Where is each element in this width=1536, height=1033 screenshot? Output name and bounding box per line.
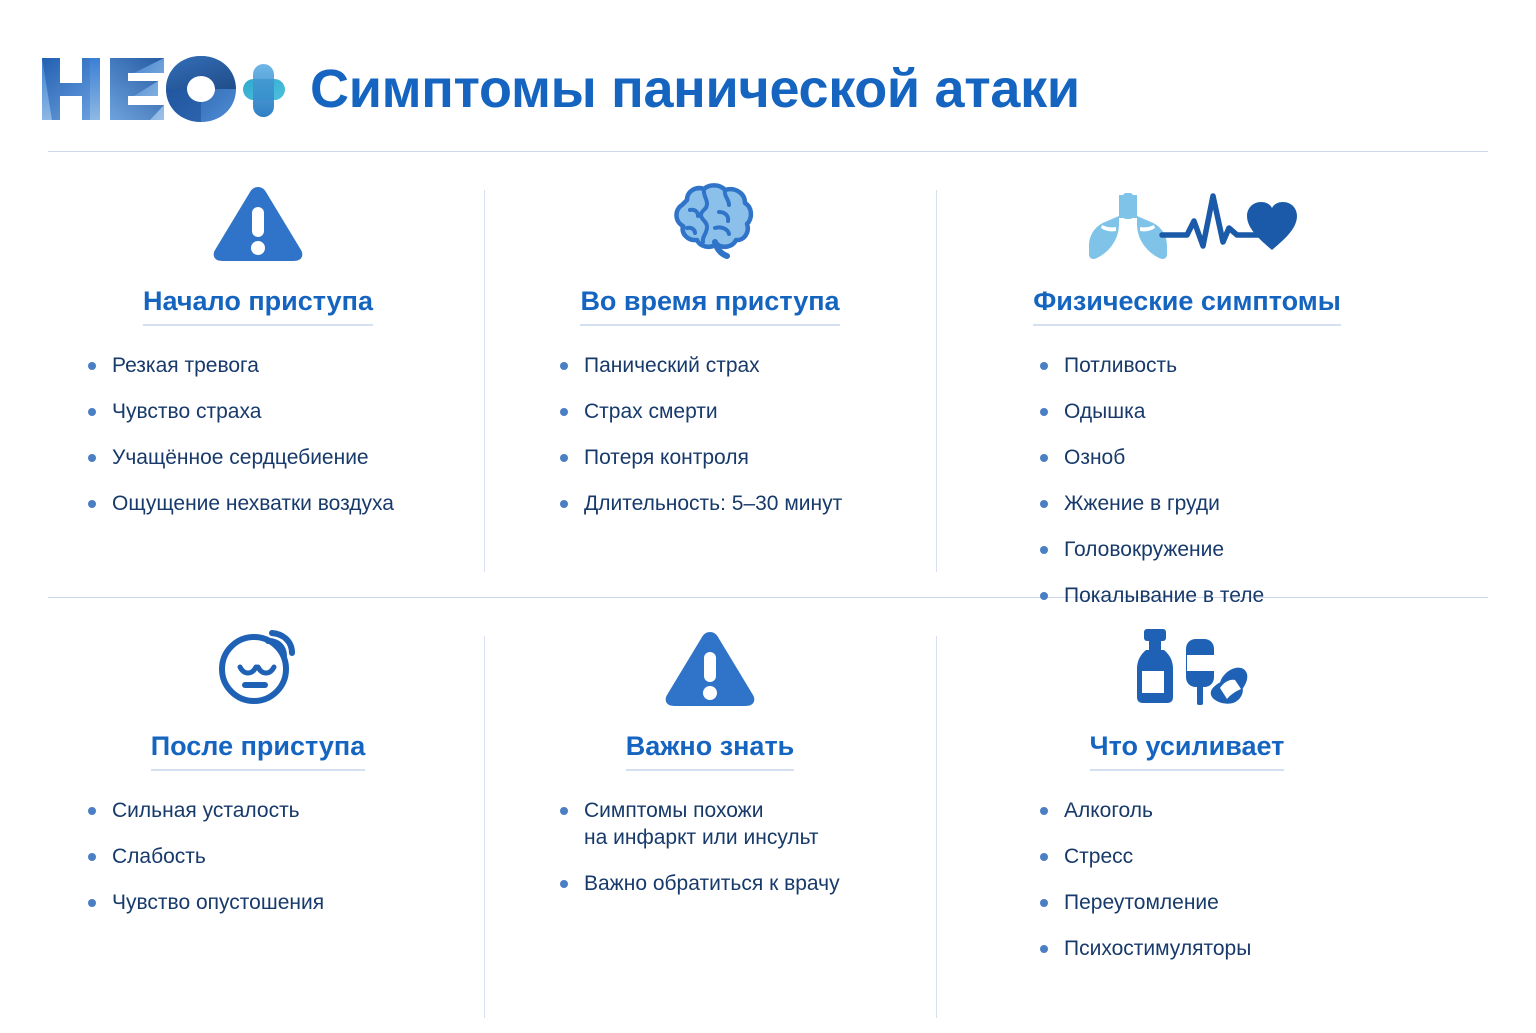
cards-row-top: Начало приступа Резкая тревога Чувство с…: [0, 152, 1536, 588]
list-item: Чувство страха: [86, 398, 468, 425]
list-item: Длительность: 5–30 минут: [558, 490, 920, 517]
list-item: Резкая тревога: [86, 352, 468, 379]
list-item: Важно обратиться к врачу: [558, 870, 920, 897]
card-list: Панический страх Страх смерти Потеря кон…: [500, 352, 920, 517]
list-item-label: Страх смерти: [584, 400, 718, 423]
list-item: Потливость: [1038, 352, 1422, 379]
card-title: Начало приступа: [143, 284, 373, 326]
list-item-label: Длительность: 5–30 минут: [584, 492, 842, 515]
list-item-label: Головокружение: [1064, 538, 1224, 561]
tired-face-icon: [48, 625, 468, 707]
card-list: Симптомы похожи на инфаркт или инсульт В…: [500, 797, 920, 897]
card-list: Потливость Одышка Озноб Жжение в груди Г…: [952, 352, 1422, 609]
list-item-label: Чувство опустошения: [112, 891, 324, 914]
list-item-label: Алкоголь: [1064, 799, 1153, 822]
card-heading: Что усиливает: [952, 729, 1422, 771]
card-onset: Начало приступа Резкая тревога Чувство с…: [48, 152, 468, 588]
list-item: Учащённое сердцебиение: [86, 444, 468, 471]
list-item: Сильная усталость: [86, 797, 468, 824]
brain-icon: [500, 180, 920, 262]
card-title: Во время приступа: [580, 284, 839, 326]
card-title: После приступа: [151, 729, 366, 771]
list-item: Панический страх: [558, 352, 920, 379]
list-item-label: Жжение в груди: [1064, 492, 1220, 515]
list-item: Чувство опустошения: [86, 889, 468, 916]
list-item-label: Одышка: [1064, 400, 1145, 423]
list-item-label: Сильная усталость: [112, 799, 300, 822]
list-item: Симптомы похожи на инфаркт или инсульт: [558, 797, 920, 851]
list-item: Психостимуляторы: [1038, 935, 1422, 962]
card-list: Сильная усталость Слабость Чувство опуст…: [48, 797, 468, 916]
card-heading: Физические симптомы: [952, 284, 1422, 326]
lungs-ecg-heart-icon: [952, 180, 1422, 262]
card-after: После приступа Сильная усталость Слабост…: [48, 597, 468, 1033]
list-item-label: Потеря контроля: [584, 446, 749, 469]
list-item: Озноб: [1038, 444, 1422, 471]
bottle-pills-icon: [952, 625, 1422, 707]
list-item-label: Учащённое сердцебиение: [112, 446, 369, 469]
card-important: Важно знать Симптомы похожи на инфаркт и…: [500, 597, 920, 1033]
list-item-label: Важно обратиться к врачу: [584, 872, 840, 895]
list-item-label: Чувство страха: [112, 400, 261, 423]
list-item: Стресс: [1038, 843, 1422, 870]
list-item: Алкоголь: [1038, 797, 1422, 824]
neo-plus-logo: [38, 52, 286, 126]
list-item-label: Панический страх: [584, 354, 760, 377]
list-item-label: Резкая тревога: [112, 354, 259, 377]
list-item-label: Потливость: [1064, 354, 1177, 377]
list-item: Потеря контроля: [558, 444, 920, 471]
card-title: Физические симптомы: [1033, 284, 1341, 326]
card-during: Во время приступа Панический страх Страх…: [500, 152, 920, 588]
card-list: Алкоголь Стресс Переутомление Психостиму…: [952, 797, 1422, 962]
list-item: Ощущение нехватки воздуха: [86, 490, 468, 517]
card-heading: Начало приступа: [48, 284, 468, 326]
warning-triangle-icon: [500, 625, 920, 707]
card-heading: Важно знать: [500, 729, 920, 771]
list-item: Переутомление: [1038, 889, 1422, 916]
list-item: Страх смерти: [558, 398, 920, 425]
page-title: Симптомы панической атаки: [310, 54, 1080, 124]
card-triggers: Что усиливает Алкоголь Стресс Переутомле…: [952, 597, 1422, 1033]
warning-triangle-icon: [48, 180, 468, 262]
list-item: Головокружение: [1038, 536, 1422, 563]
list-item-label: Озноб: [1064, 446, 1125, 469]
card-title: Что усиливает: [1090, 729, 1285, 771]
cards-row-bottom: После приступа Сильная усталость Слабост…: [0, 597, 1536, 1033]
list-item: Одышка: [1038, 398, 1422, 425]
card-physical: Физические симптомы Потливость Одышка Оз…: [952, 152, 1422, 588]
list-item-label: Симптомы похожи: [584, 799, 763, 822]
list-item: Жжение в груди: [1038, 490, 1422, 517]
card-list: Резкая тревога Чувство страха Учащённое …: [48, 352, 468, 517]
cards-grid: Начало приступа Резкая тревога Чувство с…: [0, 152, 1536, 1024]
card-heading: После приступа: [48, 729, 468, 771]
card-title: Важно знать: [626, 729, 795, 771]
page-header: Симптомы панической атаки: [0, 0, 1536, 152]
list-item-label: Слабость: [112, 845, 206, 868]
list-item-label: Психостимуляторы: [1064, 937, 1251, 960]
list-item-label: Ощущение нехватки воздуха: [112, 492, 394, 515]
card-heading: Во время приступа: [500, 284, 920, 326]
list-item: Слабость: [86, 843, 468, 870]
list-item-label: Стресс: [1064, 845, 1133, 868]
list-item-label-line2: на инфаркт или инсульт: [584, 824, 920, 851]
list-item-label: Переутомление: [1064, 891, 1219, 914]
